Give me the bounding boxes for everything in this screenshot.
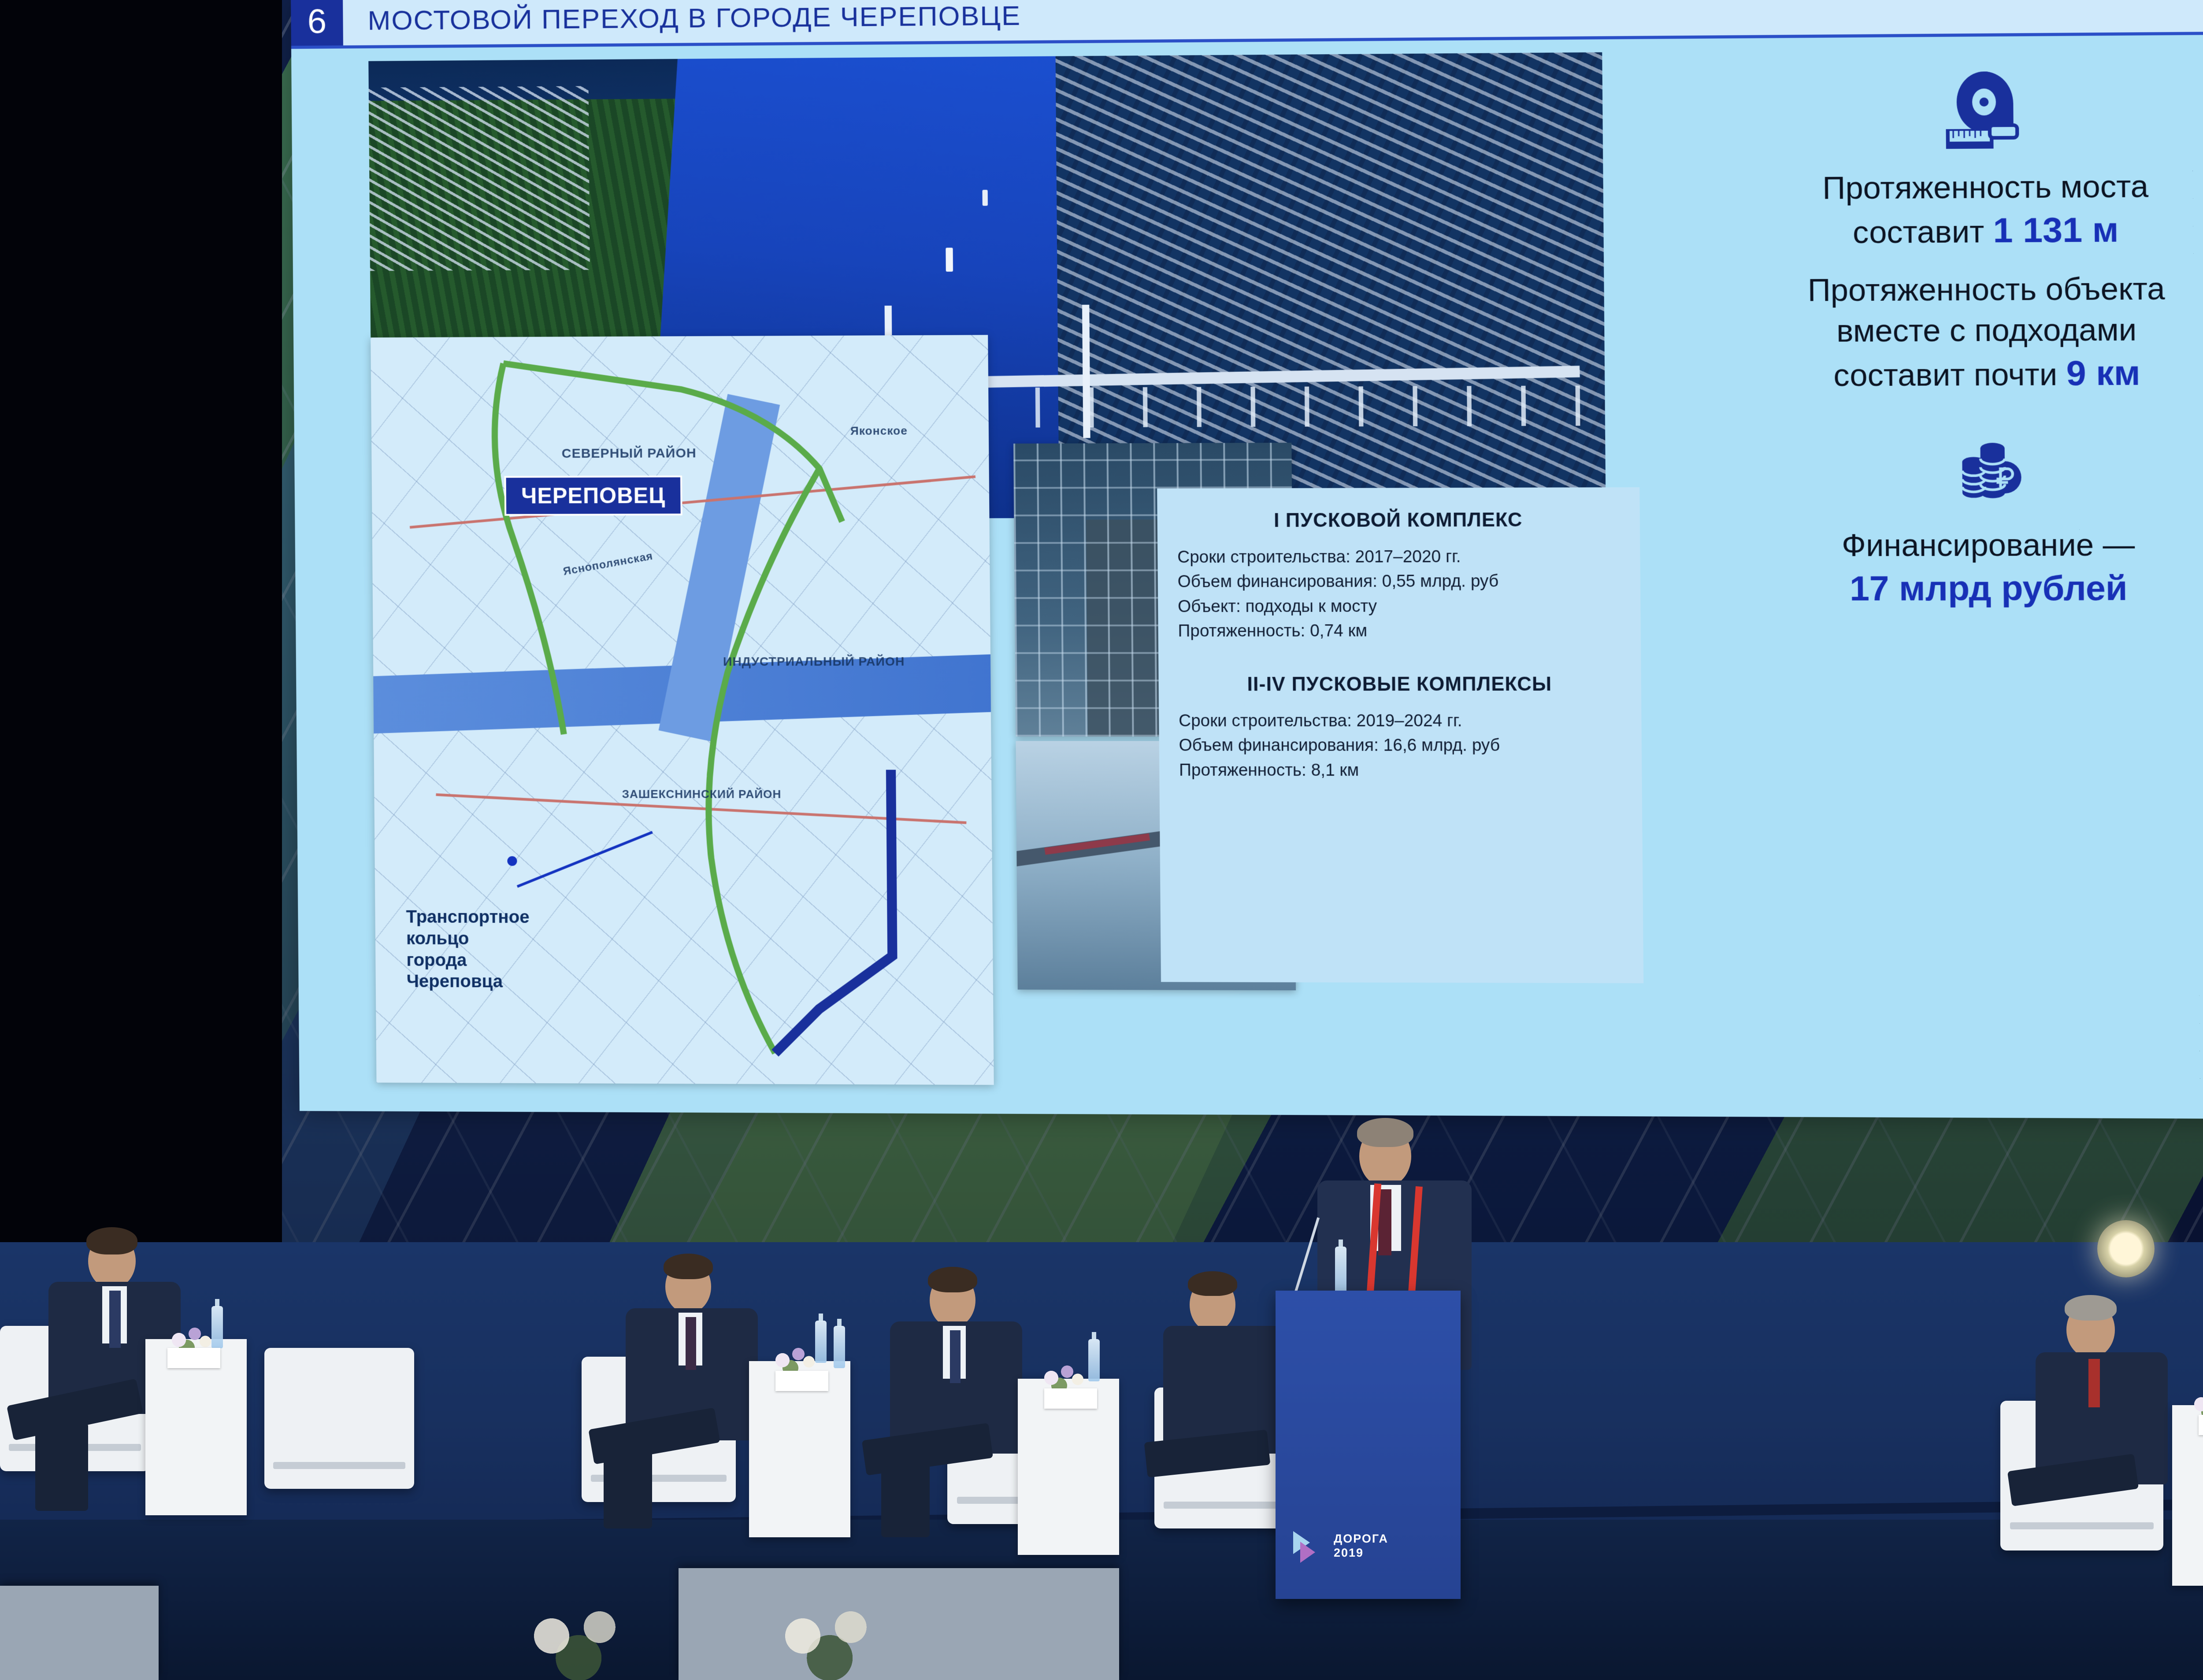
map-label-district-2: ИНДУСТРИАЛЬНЫЙ РАЙОН xyxy=(723,655,905,669)
panelist-6-hair xyxy=(2065,1295,2117,1321)
speaker-lanyard xyxy=(1366,1183,1423,1301)
map-annotation-line-4: Череповца xyxy=(407,971,530,993)
info-line-2-3: Протяженность: 8,1 км xyxy=(1179,758,1622,783)
map-ring-road-annotation: Транспортное кольцо города Череповца xyxy=(406,907,530,993)
name-card-6 xyxy=(2199,1415,2203,1435)
stage-spotlight xyxy=(2097,1220,2155,1277)
cherepovets-map: Яконское Яснополянская СЕВЕРНЫЙ РАЙОН ИН… xyxy=(371,335,994,1085)
stat-bridge-length-line2: составит 1 131 м xyxy=(1660,206,2203,255)
stat-financing: Финансирование — 17 млрд рублей xyxy=(1662,411,2203,611)
water-bottle-3b xyxy=(834,1326,845,1368)
armchair-2 xyxy=(264,1348,414,1489)
aerial-boat xyxy=(946,248,953,271)
flower-arrangement-4 xyxy=(1035,1359,1088,1390)
stat-object-length-line3: составит почти 9 км xyxy=(1661,350,2203,398)
water-bottle-1 xyxy=(211,1306,223,1348)
stat-bridge-length: Протяженность моста составит 1 131 м xyxy=(1659,52,2203,255)
panelist-1-lower-leg xyxy=(35,1423,88,1511)
panelist-6-tie xyxy=(2088,1359,2100,1407)
map-label-district-3: ЗАШЕКСНИНСКИЙ РАЙОН xyxy=(622,787,781,801)
panelist-5-hair xyxy=(1188,1271,1237,1296)
tape-measure-icon xyxy=(1659,52,2203,169)
stat-financing-line1: Финансирование — xyxy=(1662,524,2203,566)
stat-object-length-line1: Протяженность объекта xyxy=(1661,268,2203,312)
map-annotation-line-1: Транспортное xyxy=(406,907,529,928)
road-chevron-icon xyxy=(1291,1528,1326,1564)
coins-ruble-icon xyxy=(1662,411,2203,525)
map-label-district-4: Яконское xyxy=(850,424,908,438)
podium: ДОРОГА 2019 xyxy=(1276,1291,1461,1599)
info-line-1-1: Сроки строительства: 2017–2020 гг. xyxy=(1177,544,1620,570)
panelist-3-hair xyxy=(664,1254,713,1279)
aerial-houses-left xyxy=(369,86,590,271)
stat-object-length-line2: вместе с подходами xyxy=(1661,309,2203,352)
panelist-4-lower-leg xyxy=(881,1462,930,1537)
map-annotation-line-2: кольцо xyxy=(406,928,530,950)
slide-stats-column: Протяженность моста составит 1 131 м Про… xyxy=(1659,52,2203,627)
presentation-slide: 6 МОСТОВОЙ ПЕРЕХОД В ГОРОДЕ ЧЕРЕПОВЦЕ xyxy=(291,0,2203,1119)
stat-bridge-length-text: Протяженность моста составит 1 131 м xyxy=(1660,165,2203,255)
stat-bridge-length-line1: Протяженность моста xyxy=(1660,165,2203,210)
name-card-3 xyxy=(775,1371,828,1391)
flower-arrangement-6 xyxy=(2185,1386,2203,1417)
stat-object-length-value: 9 км xyxy=(2066,353,2140,393)
panelist-3-tie xyxy=(686,1317,696,1370)
foreground-panel-left xyxy=(0,1586,159,1680)
stat-bridge-length-value: 1 131 м xyxy=(1993,210,2119,250)
info-line-1-2: Объем финансирования: 0,55 млрд. руб xyxy=(1177,569,1620,595)
aerial-bridge-pylon-right xyxy=(1082,305,1090,438)
slide-title: МОСТОВОЙ ПЕРЕХОД В ГОРОДЕ ЧЕРЕПОВЦЕ xyxy=(343,0,2203,37)
map-city-label: ЧЕРЕПОВЕЦ xyxy=(504,476,682,516)
info-heading-1: I ПУСКОВОЙ КОМПЛЕКС xyxy=(1177,509,1620,532)
panelist-3-lower-leg xyxy=(604,1449,652,1528)
stat-financing-text: Финансирование — 17 млрд рублей xyxy=(1662,524,2203,611)
foreground-flowers-left xyxy=(507,1592,656,1680)
map-annotation-line-3: города xyxy=(406,949,530,971)
stat-financing-value: 17 млрд рублей xyxy=(1663,565,2203,611)
stat-object-length-text: Протяженность объекта вместе с подходами… xyxy=(1661,268,2203,398)
info-line-2-1: Сроки строительства: 2019–2024 гг. xyxy=(1179,709,1621,733)
panelist-1-hair xyxy=(86,1227,137,1254)
stat-bridge-length-prefix: составит xyxy=(1853,214,1993,250)
speaker-hair xyxy=(1357,1118,1413,1147)
aerial-boat-far xyxy=(982,190,987,206)
podium-logo-line1: ДОРОГА xyxy=(1334,1532,1388,1546)
info-line-1-3: Объект: подходы к мосту xyxy=(1178,594,1621,619)
map-label-district-1: СЕВЕРНЫЙ РАЙОН xyxy=(562,446,697,461)
flower-arrangement-3 xyxy=(767,1342,820,1373)
water-bottle-3 xyxy=(815,1321,827,1363)
podium-logo: ДОРОГА 2019 xyxy=(1291,1528,1388,1564)
name-card-1 xyxy=(167,1348,220,1368)
panelist-4-hair xyxy=(928,1267,977,1292)
podium-logo-text: ДОРОГА 2019 xyxy=(1334,1532,1388,1560)
info-line-2-2: Объем финансирования: 16,6 млрд. руб xyxy=(1179,733,1621,758)
map-callout-dot xyxy=(507,856,517,866)
slide-number-badge: 6 xyxy=(291,0,343,46)
panelist-4-tie xyxy=(950,1330,961,1383)
led-wall-left-masking xyxy=(0,0,282,1304)
podium-logo-line2: 2019 xyxy=(1334,1546,1388,1560)
panelist-1-tie xyxy=(109,1291,121,1348)
name-card-4 xyxy=(1044,1388,1097,1409)
foreground-flowers-center xyxy=(758,1592,908,1680)
stat-object-length-prefix: составит почти xyxy=(1833,357,2066,393)
conference-stage-photo: 6 МОСТОВОЙ ПЕРЕХОД В ГОРОДЕ ЧЕРЕПОВЦЕ xyxy=(0,0,2203,1680)
info-heading-2: II-IV ПУСКОВЫЕ КОМПЛЕКСЫ xyxy=(1178,673,1621,696)
info-line-1-4: Протяженность: 0,74 км xyxy=(1178,619,1621,644)
water-bottle-4 xyxy=(1088,1339,1100,1381)
stat-object-length: Протяженность объекта вместе с подходами… xyxy=(1661,268,2203,398)
launch-complex-info-box: I ПУСКОВОЙ КОМПЛЕКС Сроки строительства:… xyxy=(1157,487,1643,983)
